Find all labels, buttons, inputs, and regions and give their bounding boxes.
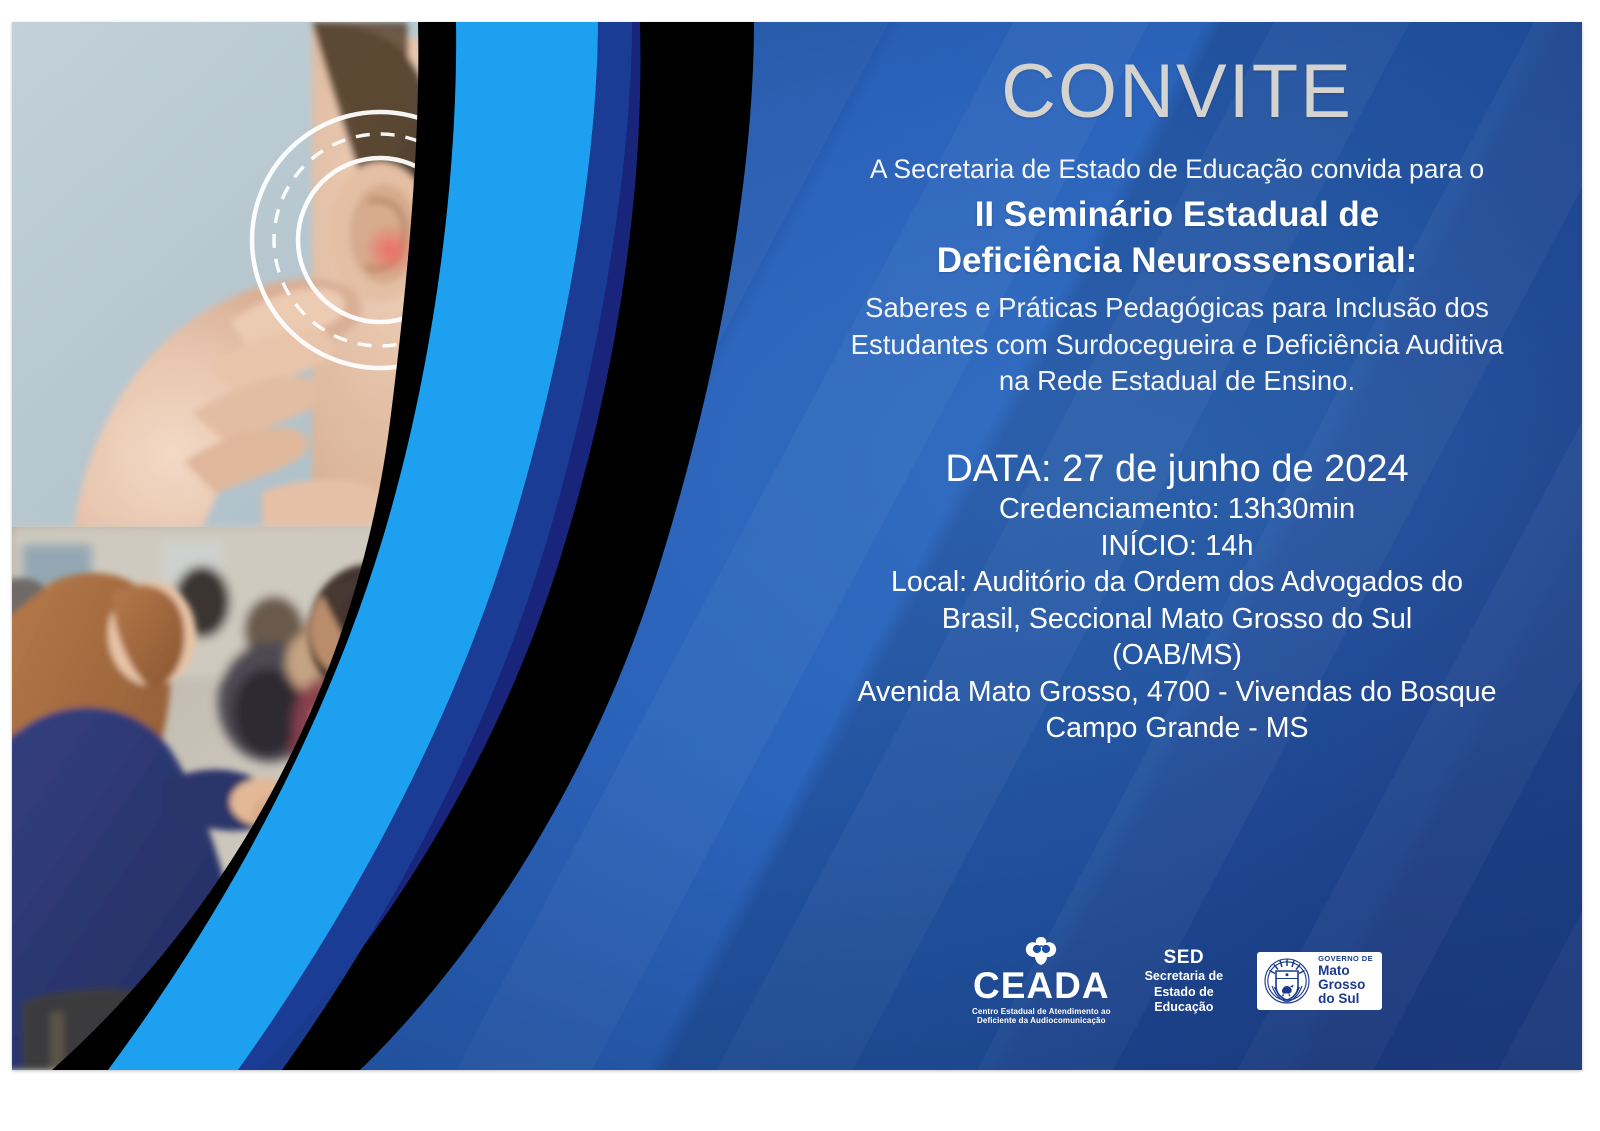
event-start-time: INÍCIO: 14h [788, 528, 1566, 565]
invitation-poster: CONVITE A Secretaria de Estado de Educaç… [12, 22, 1582, 1070]
subtitle-line-2: Estudantes com Surdocegueira e Deficiênc… [788, 327, 1566, 363]
sed-line-3: Educação [1154, 1000, 1213, 1015]
address-line-2: Campo Grande - MS [780, 710, 1574, 746]
government-name-line-2: Grosso [1318, 978, 1373, 992]
address-line-1: Avenida Mato Grosso, 4700 - Vivendas do … [780, 674, 1574, 710]
sed-logo: SED Secretaria de Estado de Educação [1145, 946, 1224, 1015]
seminar-title: II Seminário Estadual de Deficiência Neu… [832, 192, 1522, 283]
ceada-tagline-line-2: Deficiente da Audiocomunicação [972, 1016, 1111, 1026]
venue-line-2: Brasil, Seccional Mato Grosso do Sul [780, 601, 1574, 637]
sed-line-2: Estado de [1154, 985, 1214, 1000]
government-name-line-3: do Sul [1318, 992, 1373, 1006]
ceada-mark-icon [1022, 936, 1060, 966]
venue-line-1: Local: Auditório da Ordem dos Advogados … [780, 564, 1574, 600]
event-date: DATA: 27 de junho de 2024 [792, 447, 1562, 491]
event-credentialing-time: Credenciamento: 13h30min [788, 491, 1566, 528]
venue-line-3: (OAB/MS) [780, 637, 1574, 673]
ceada-tagline-line-1: Centro Estadual de Atendimento ao [972, 1007, 1111, 1017]
invitation-content: CONVITE A Secretaria de Estado de Educaç… [772, 22, 1582, 1070]
mato-grosso-do-sul-coat-of-arms-icon [1263, 956, 1311, 1006]
intro-text: A Secretaria de Estado de Educação convi… [816, 152, 1538, 186]
subtitle-line-1: Saberes e Práticas Pedagógicas para Incl… [788, 290, 1566, 326]
sed-line-1: Secretaria de [1145, 969, 1224, 984]
sed-abbreviation: SED [1164, 946, 1205, 969]
subtitle-line-3: na Rede Estadual de Ensino. [788, 363, 1566, 399]
government-logo: GOVERNO DE Mato Grosso do Sul [1257, 952, 1382, 1010]
seminar-subtitle: Saberes e Práticas Pedagógicas para Incl… [788, 290, 1566, 399]
seminar-title-line-2: Deficiência Neurossensorial: [832, 238, 1522, 284]
event-details: DATA: 27 de junho de 2024 Credenciamento… [772, 447, 1582, 746]
page-title: CONVITE [772, 22, 1582, 130]
ceada-wordmark: CEADA [973, 967, 1110, 1004]
ceada-tagline: Centro Estadual de Atendimento ao Defici… [972, 1007, 1111, 1027]
seminar-title-line-1: II Seminário Estadual de [832, 192, 1522, 238]
government-name-line-1: Mato [1318, 964, 1373, 978]
government-wordmark: GOVERNO DE Mato Grosso do Sul [1318, 955, 1373, 1006]
left-artwork [12, 22, 832, 1070]
logo-row: CEADA Centro Estadual de Atendimento ao … [772, 936, 1582, 1027]
ceada-logo: CEADA Centro Estadual de Atendimento ao … [972, 936, 1111, 1027]
government-eyebrow: GOVERNO DE [1318, 955, 1373, 963]
